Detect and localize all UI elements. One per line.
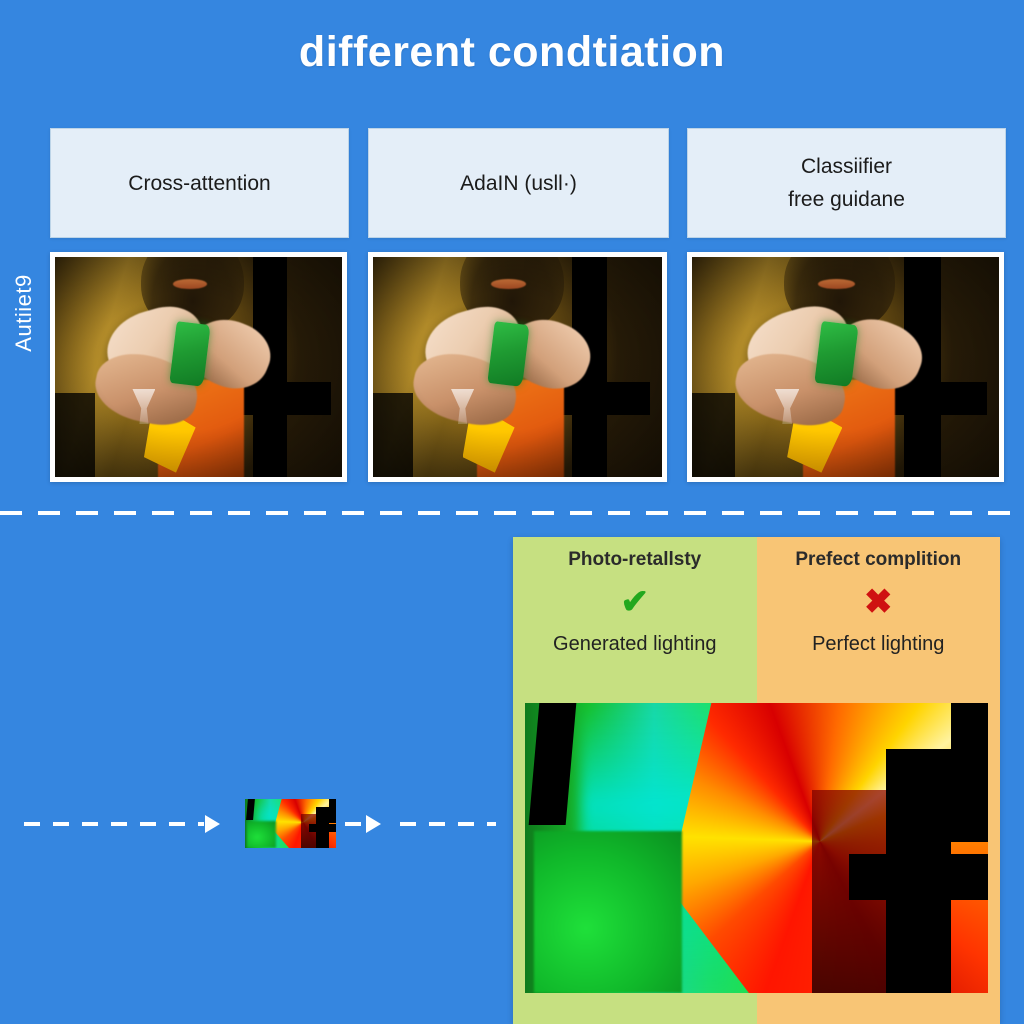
column-header-label-line1: Classiifier: [801, 150, 892, 183]
evaluation-bad-title: Prefect complition: [795, 549, 961, 571]
evaluation-good-title: Photo-retallsty: [568, 549, 701, 571]
arrow-right-icon: [366, 815, 381, 833]
row-label: Autiiet9: [11, 253, 37, 373]
dashed-line-segment: [345, 822, 367, 826]
photo-content: [55, 257, 342, 477]
evaluation-column-bad: Prefect complition ✖ Perfect lighting: [757, 537, 1001, 693]
column-header-label: AdaIN (usll·): [460, 167, 577, 200]
photo-content: [373, 257, 662, 477]
generated-image-thumbnail: [245, 799, 336, 848]
thumb-black-block-far-right: [329, 799, 336, 823]
evaluation-panel: Photo-retallsty ✔ Generated lighting Pre…: [513, 537, 1000, 1024]
photo-black-block-left: [55, 393, 95, 477]
large-green-block: [534, 831, 682, 993]
photo-content: [692, 257, 999, 477]
thumb-green-block: [247, 821, 276, 848]
photo-black-block-left: [692, 393, 735, 477]
arrow-right-icon: [205, 815, 220, 833]
sample-image-cross-attention: [50, 252, 347, 482]
check-icon: ✔: [621, 585, 650, 619]
column-header-adain: AdaIN (usll·): [368, 128, 669, 238]
photo-black-block-left: [373, 393, 413, 477]
large-black-bar-horizontal: [849, 854, 988, 900]
photo-lips: [818, 279, 855, 289]
section-divider: [0, 511, 1024, 515]
evaluation-panel-header: Photo-retallsty ✔ Generated lighting Pre…: [513, 537, 1000, 693]
figure-canvas: different condtiation Cross-attention Ad…: [0, 0, 1024, 1024]
dashed-line-segment: [24, 822, 204, 826]
cross-icon: ✖: [864, 585, 893, 619]
column-header-label-line2: free guidane: [788, 183, 905, 216]
dashed-line-segment: [400, 822, 496, 826]
large-black-block-far-right: [951, 703, 988, 842]
photo-lips: [491, 279, 526, 289]
evaluation-good-subtitle: Generated lighting: [553, 633, 716, 656]
photo-green-object: [814, 321, 858, 387]
column-header-classifier-free-guidance: Classiifier free guidane: [687, 128, 1006, 238]
column-header-label: Cross-attention: [128, 167, 270, 200]
sample-image-classifier-free-guidance: [687, 252, 1004, 482]
generated-image-large: [525, 703, 988, 993]
sample-image-adain: [368, 252, 667, 482]
thumb-black-bar-horizontal: [309, 824, 336, 832]
evaluation-bad-subtitle: Perfect lighting: [812, 633, 944, 656]
column-header-cross-attention: Cross-attention: [50, 128, 349, 238]
figure-title: different condtiation: [0, 28, 1024, 77]
thumb-black-block-left: [246, 799, 255, 820]
photo-lips: [173, 279, 207, 289]
evaluation-column-good: Photo-retallsty ✔ Generated lighting: [513, 537, 757, 693]
